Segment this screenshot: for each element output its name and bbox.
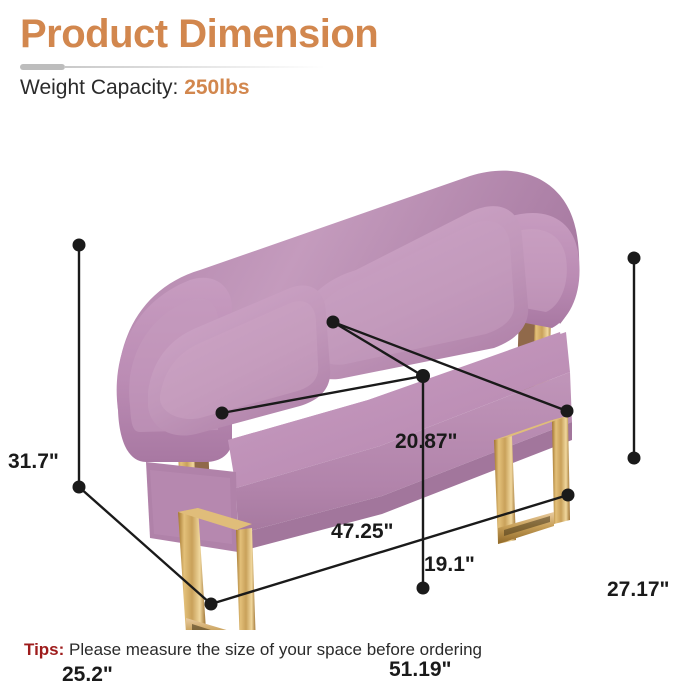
page-title: Product Dimension [20,12,378,57]
divider-thick-segment [20,64,65,70]
dot-height-top [73,239,86,252]
dot-seat-right [561,405,574,418]
dot-height-bottom [73,481,86,494]
dimension-label-seat-depth: 20.87" [395,430,458,454]
sofa-illustration [0,110,700,630]
tips-label: Tips: [24,640,64,659]
product-dimension-infographic: Product Dimension Weight Capacity: 250lb… [0,0,700,700]
title-divider [20,64,325,70]
weight-capacity: Weight Capacity: 250lbs [20,76,250,100]
weight-capacity-label: Weight Capacity: [20,76,178,99]
dimension-label-seat-height: 19.1" [424,553,475,577]
dimension-label-overall-depth: 25.2" [62,663,113,687]
dot-seat-left [216,407,229,420]
divider-thin-segment [64,66,325,68]
dot-depth-end [205,598,218,611]
tips-text: Please measure the size of your space be… [69,640,482,659]
dot-seat-floor [417,582,430,595]
product-diagram: 31.7" 20.87" 47.25" 19.1" 27.17" 25.2" 5… [0,110,700,630]
dot-back-bottom [628,452,641,465]
dimension-label-seat-width: 47.25" [331,520,394,544]
weight-capacity-value: 250lbs [184,76,249,99]
tips-note: Tips: Please measure the size of your sp… [24,640,482,660]
dimension-label-overall-height: 31.7" [8,450,59,474]
dot-back-top [628,252,641,265]
dimension-label-overall-width: 51.19" [389,658,452,682]
dot-seat-node [416,369,430,383]
dot-width-right [562,489,575,502]
dimension-label-back-height: 27.17" [607,578,670,602]
dot-seat-rear [327,316,340,329]
